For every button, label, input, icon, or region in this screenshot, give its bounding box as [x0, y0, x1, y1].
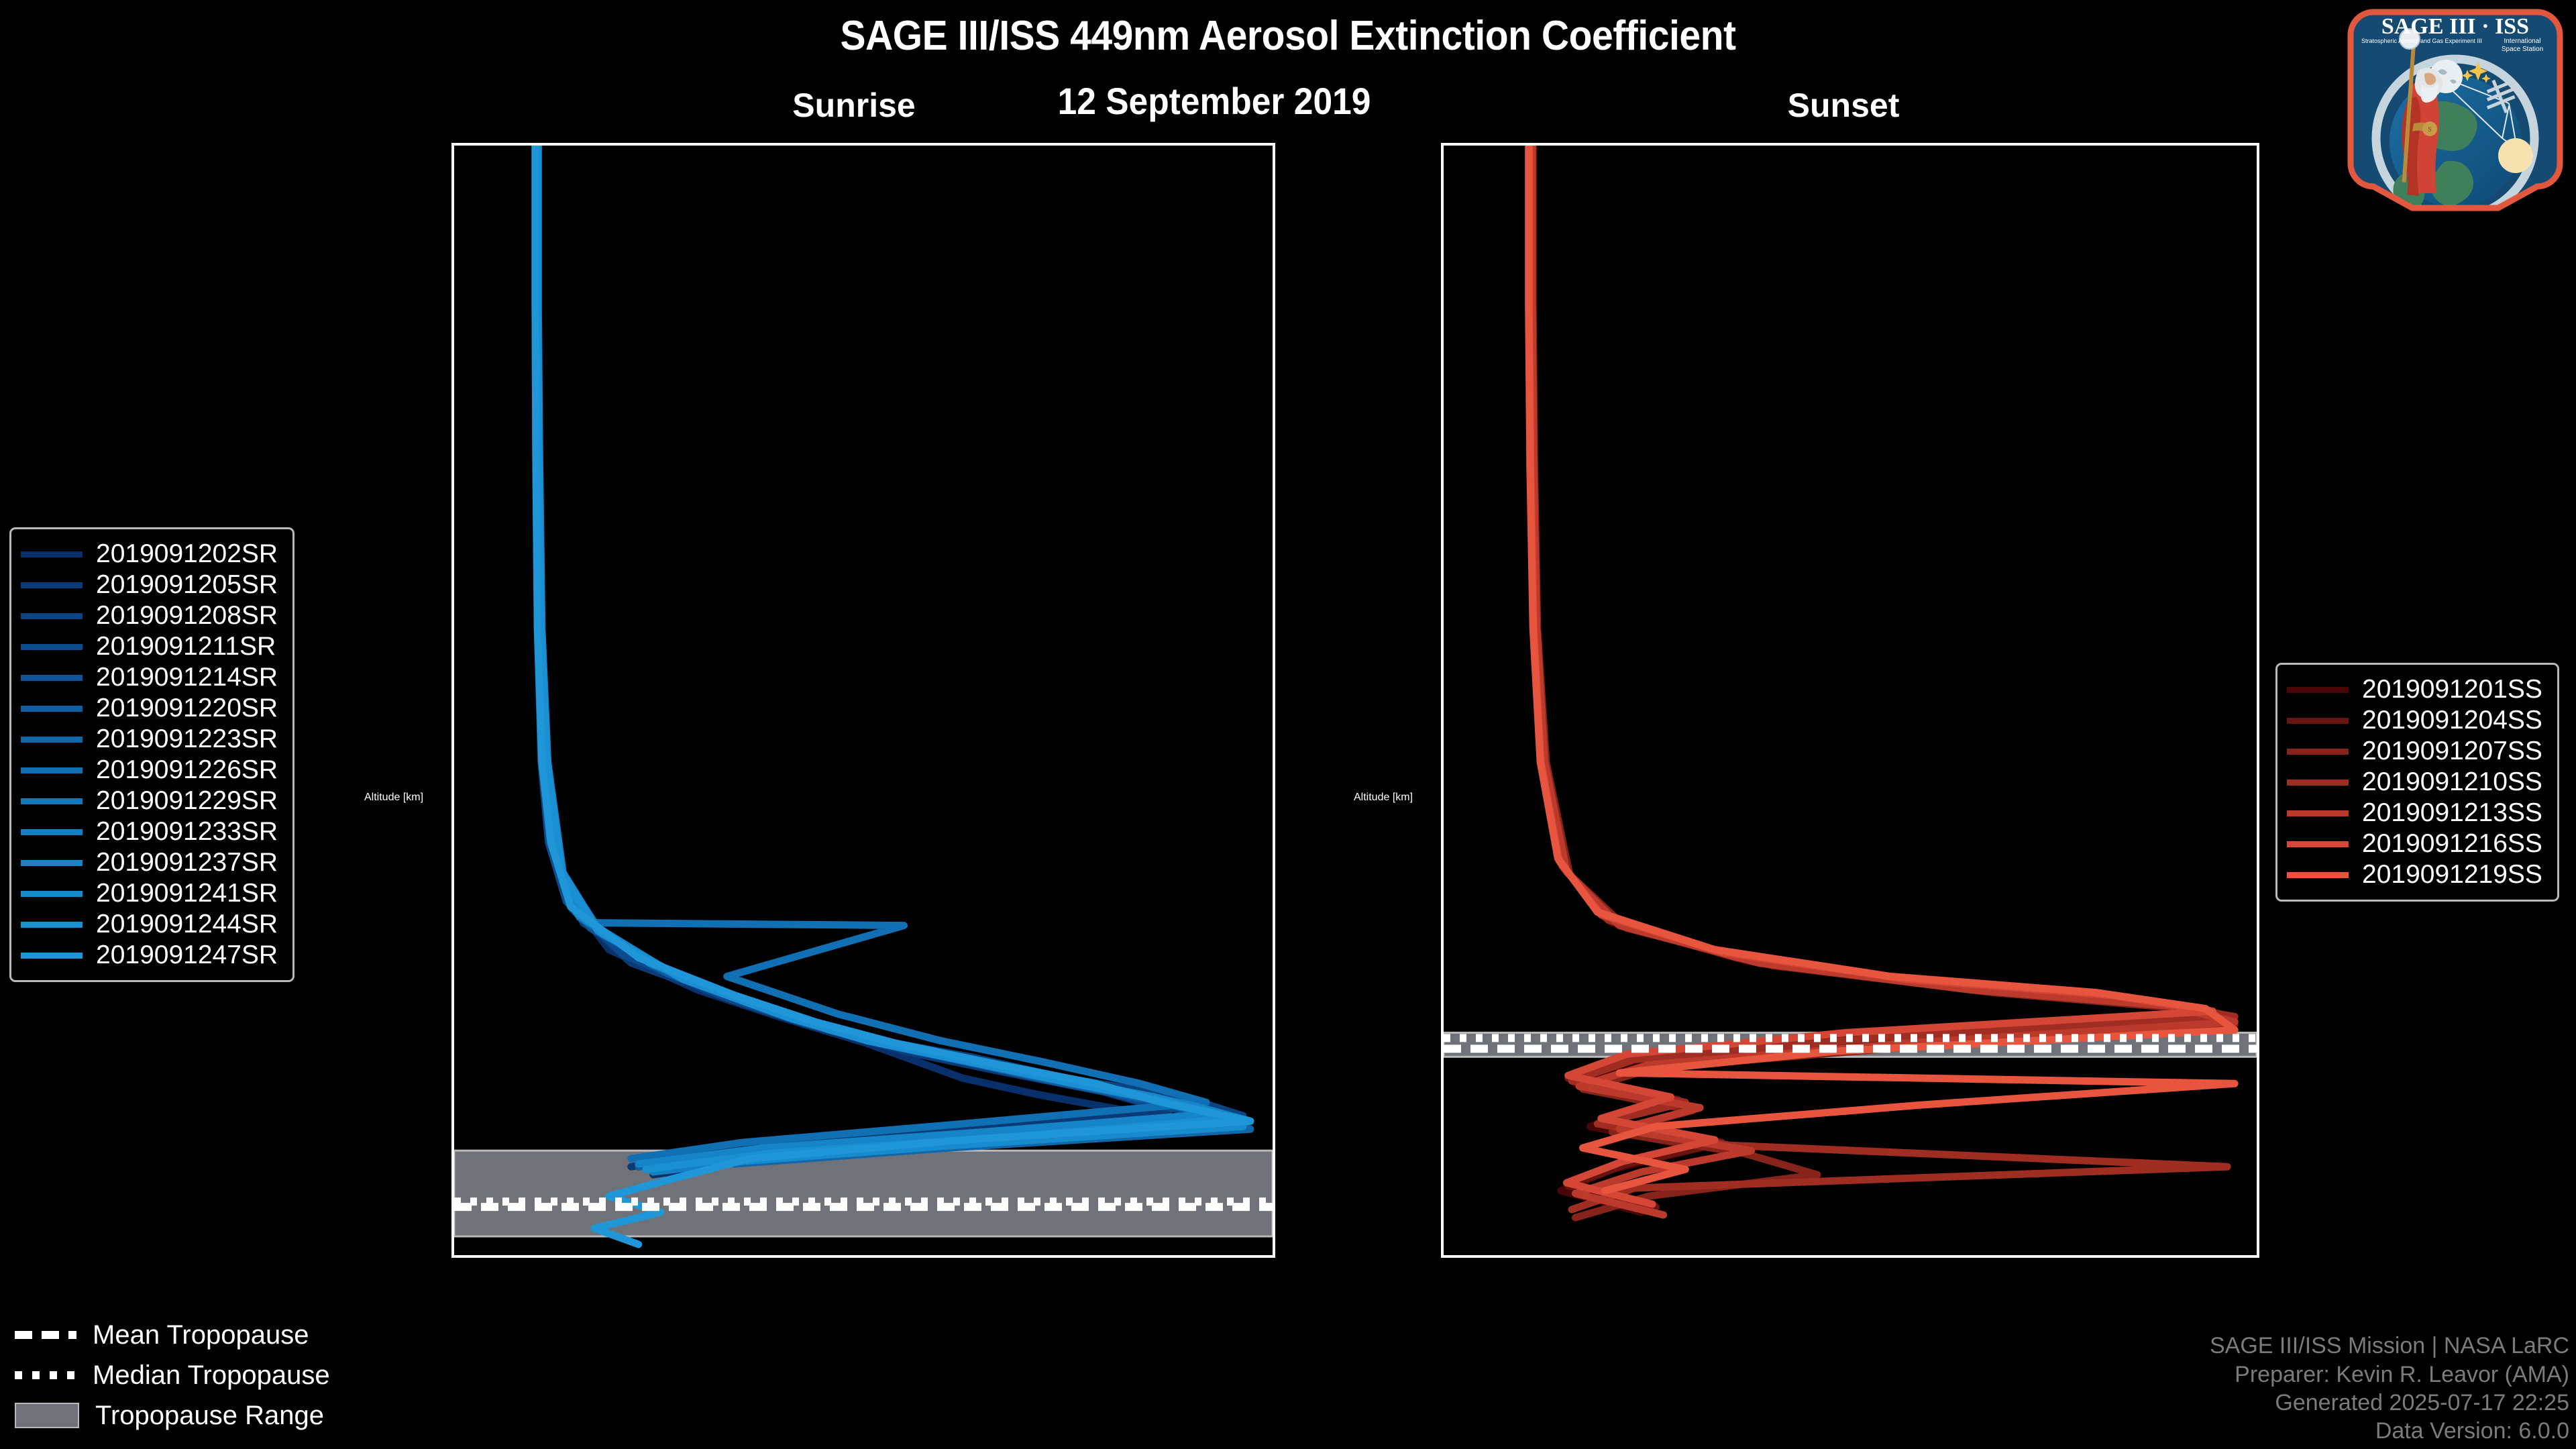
tropopause-legend-item-mean-tropopause[interactable]: Mean Tropopause [15, 1315, 330, 1355]
credits-block: SAGE III/ISS Mission | NASA LaRCPreparer… [2210, 1332, 2569, 1445]
sunrise-series-line [538, 146, 1250, 1172]
sunrise-series-line [537, 146, 1214, 1167]
sunrise-legend-swatch [21, 953, 83, 959]
sunrise-legend-item[interactable]: 2019091220SR [21, 693, 278, 724]
sunrise-y-tick [451, 814, 454, 817]
sunset-x-tick [1655, 1255, 1658, 1258]
credits-line-3: Generated 2025-07-17 22:25 [2210, 1389, 2569, 1417]
sunset-y-tick [1441, 949, 1444, 951]
sunset-legend-item[interactable]: 2019091219SS [2287, 859, 2542, 890]
sunrise-y-tick [451, 278, 454, 281]
sunset-x-tick [2094, 1255, 2097, 1258]
sunset-panel-title: Sunset [1642, 86, 2045, 125]
sunrise-x-tick [1256, 1255, 1259, 1258]
svg-text:S: S [2428, 126, 2432, 133]
sunrise-legend-label: 2019091247SR [96, 941, 278, 970]
median-tropopause-swatch [15, 1371, 76, 1379]
sunrise-legend-swatch [21, 675, 83, 681]
sunset-legend-item[interactable]: 2019091207SS [2287, 736, 2542, 767]
credits-line-4: Data Version: 6.0.0 [2210, 1417, 2569, 1445]
sunset-legend-item[interactable]: 2019091210SS [2287, 767, 2542, 798]
sunrise-legend-item[interactable]: 2019091247SR [21, 940, 278, 971]
sunrise-y-axis-title: Altitude [km] [364, 792, 423, 804]
sunset-legend-label: 2019091210SS [2362, 767, 2542, 797]
mean-tropopause-label: Mean Tropopause [93, 1320, 309, 1350]
tropopause-legend: Mean TropopauseMedian TropopauseTropopau… [15, 1315, 330, 1436]
sunrise-legend-label: 2019091223SR [96, 724, 278, 754]
sunset-x-tick [1801, 1255, 1804, 1258]
sunrise-series-line [537, 146, 1206, 1159]
sunrise-series-line [536, 146, 1169, 1167]
sunset-legend-swatch [2287, 810, 2349, 816]
sunset-legend-item[interactable]: 2019091216SS [2287, 828, 2542, 859]
sunset-legend-swatch [2287, 749, 2349, 755]
tropopause-range-label: Tropopause Range [95, 1401, 324, 1431]
sunrise-legend-swatch [21, 737, 83, 743]
sunset-legend-label: 2019091219SS [2362, 860, 2542, 890]
page-title: SAGE III/ISS 449nm Aerosol Extinction Co… [103, 12, 2473, 60]
sunset-legend-swatch [2287, 718, 2349, 724]
sunrise-tropopause-range-band [454, 1150, 1273, 1236]
sunrise-y-tick [451, 1082, 454, 1085]
sunset-x-tick [2241, 1255, 2243, 1258]
sunrise-series-line [535, 146, 1236, 1161]
sunrise-legend-item[interactable]: 2019091208SR [21, 600, 278, 631]
sunrise-plot-area: 1015202530354045500.0000.0020.0040.0060.… [451, 143, 1275, 1258]
sunrise-legend-label: 2019091241SR [96, 879, 278, 908]
sunrise-x-tick [814, 1255, 817, 1258]
sunrise-legend-label: 2019091214SR [96, 663, 278, 692]
sunrise-y-tick [451, 546, 454, 549]
sunrise-series-line [536, 146, 1243, 1161]
tropopause-legend-item-tropopause-range[interactable]: Tropopause Range [15, 1395, 330, 1436]
sunrise-legend-label: 2019091208SR [96, 601, 278, 631]
patch-title: SAGE III · ISS [2381, 14, 2529, 39]
sunset-legend-item[interactable]: 2019091201SS [2287, 674, 2542, 705]
sunrise-legend-label: 2019091202SR [96, 539, 278, 569]
sunrise-y-tick [451, 144, 454, 147]
sunrise-legend-item[interactable]: 2019091214SR [21, 662, 278, 693]
sunrise-profile-lines [454, 146, 1273, 1255]
sunrise-legend-swatch [21, 551, 83, 557]
sunset-legend-label: 2019091204SS [2362, 706, 2542, 735]
sunrise-legend-label: 2019091211SR [96, 632, 276, 661]
sunset-x-tick [1947, 1255, 1950, 1258]
sunrise-y-tick [451, 1216, 454, 1219]
sunrise-legend-swatch [21, 706, 83, 712]
sunrise-x-tick [667, 1255, 669, 1258]
sunset-legend-item[interactable]: 2019091213SS [2287, 798, 2542, 828]
sunrise-series-line [536, 146, 1250, 1164]
sunrise-legend-item[interactable]: 2019091205SR [21, 570, 278, 600]
sunrise-series-line [535, 146, 1250, 1244]
sunset-y-tick [1441, 1216, 1444, 1219]
sunset-y-tick [1441, 680, 1444, 683]
sunset-plot-area: 1015202530354045500.0000.0020.0040.0060.… [1441, 143, 2259, 1258]
sunset-legend-swatch [2287, 687, 2349, 693]
sunrise-legend-swatch [21, 829, 83, 835]
sunrise-legend-label: 2019091220SR [96, 694, 278, 723]
patch-subtitle-right-2: Space Station [2502, 46, 2543, 53]
sunset-legend-swatch [2287, 872, 2349, 878]
sunrise-legend-swatch [21, 767, 83, 773]
sunrise-legend-label: 2019091233SR [96, 817, 278, 847]
sunset-legend-item[interactable]: 2019091204SS [2287, 705, 2542, 736]
sunrise-legend-swatch [21, 644, 83, 650]
sunrise-series-line [537, 146, 1221, 1164]
tropopause-legend-item-median-tropopause[interactable]: Median Tropopause [15, 1355, 330, 1395]
median-tropopause-label: Median Tropopause [93, 1360, 330, 1391]
sunset-y-tick [1441, 546, 1444, 549]
sunrise-legend-item[interactable]: 2019091233SR [21, 816, 278, 847]
sunrise-legend-item[interactable]: 2019091229SR [21, 786, 278, 816]
sunrise-legend-item[interactable]: 2019091211SR [21, 631, 278, 662]
sunset-legend-label: 2019091201SS [2362, 675, 2542, 704]
sunrise-x-tick [1109, 1255, 1112, 1258]
sunrise-x-tick [961, 1255, 964, 1258]
sunrise-legend-label: 2019091226SR [96, 755, 278, 785]
sunset-y-axis-title: Altitude [km] [1354, 792, 1413, 804]
sunrise-legend-swatch [21, 613, 83, 619]
sunrise-legend-swatch [21, 582, 83, 588]
sunrise-legend-item[interactable]: 2019091223SR [21, 724, 278, 755]
sunrise-legend-label: 2019091229SR [96, 786, 278, 816]
sunrise-legend-swatch [21, 860, 83, 866]
sunset-legend: 2019091201SS2019091204SS2019091207SS2019… [2275, 663, 2559, 902]
sunset-y-tick [1441, 413, 1444, 415]
sunrise-legend-item[interactable]: 2019091241SR [21, 878, 278, 909]
credits-line-2: Preparer: Kevin R. Leavor (AMA) [2210, 1360, 2569, 1389]
sunrise-panel-title: Sunrise [653, 86, 1055, 125]
sunrise-legend-label: 2019091205SR [96, 570, 278, 600]
sunrise-legend-item[interactable]: 2019091237SR [21, 847, 278, 878]
patch-subtitle-left: Stratospheric Aerosol and Gas Experiment… [2361, 38, 2482, 44]
sunrise-legend-swatch [21, 891, 83, 897]
sunrise-series-line [537, 146, 1236, 1169]
sunrise-legend-swatch [21, 798, 83, 804]
sunset-x-tick [1508, 1255, 1511, 1258]
sunset-y-tick [1441, 814, 1444, 817]
sunrise-legend-label: 2019091237SR [96, 848, 278, 877]
mean-tropopause-swatch [15, 1331, 76, 1339]
patch-subtitle-right-1: International [2504, 38, 2540, 45]
credits-line-1: SAGE III/ISS Mission | NASA LaRC [2210, 1332, 2569, 1360]
sunset-y-tick [1441, 1082, 1444, 1085]
tropopause-range-swatch [15, 1403, 79, 1428]
sunrise-x-tick [519, 1255, 522, 1258]
sunset-legend-swatch [2287, 780, 2349, 786]
sunset-legend-label: 2019091207SS [2362, 737, 2542, 766]
sunset-y-tick [1441, 144, 1444, 147]
sunrise-legend-item[interactable]: 2019091202SR [21, 539, 278, 570]
sunset-legend-label: 2019091213SS [2362, 798, 2542, 828]
sunrise-series-line [537, 146, 1243, 1164]
sunrise-legend-item[interactable]: 2019091226SR [21, 755, 278, 786]
sunrise-legend: 2019091202SR2019091205SR2019091208SR2019… [9, 527, 294, 982]
sunset-y-tick [1441, 278, 1444, 281]
sunrise-y-tick [451, 949, 454, 951]
sunset-legend-swatch [2287, 841, 2349, 847]
sunrise-y-tick [451, 680, 454, 683]
sunrise-legend-label: 2019091244SR [96, 910, 278, 939]
sunset-profile-lines [1444, 146, 2257, 1255]
sunrise-series-line [535, 146, 1243, 1156]
sunset-legend-label: 2019091216SS [2362, 829, 2542, 859]
sage-iii-iss-mission-patch-icon: S BALL · NASA LANGLEY RESEARCH CENTER · … [2344, 4, 2567, 216]
sunrise-legend-item[interactable]: 2019091244SR [21, 909, 278, 940]
sunrise-series-line [538, 146, 1228, 1169]
sunrise-legend-swatch [21, 922, 83, 928]
sunrise-y-tick [451, 413, 454, 415]
